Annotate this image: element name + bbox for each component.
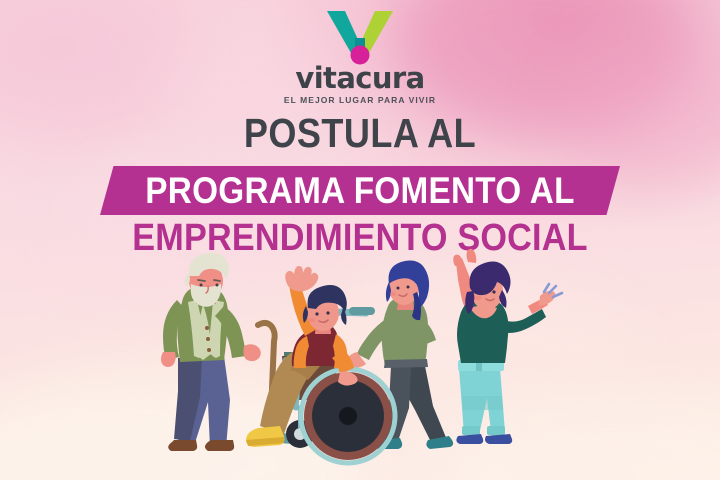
raised-hand-overlay: [0, 0, 720, 480]
poster-canvas: vitacura EL MEJOR LUGAR PARA VIVIR POSTU…: [0, 0, 720, 480]
